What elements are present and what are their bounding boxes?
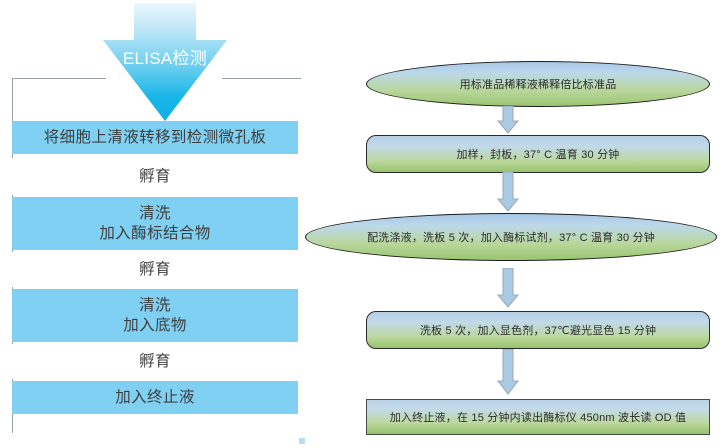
flow-node-label: 加入终止液，在 15 分钟内读出酶标仪 450nm 波长读 OD 值 — [390, 409, 687, 425]
down-arrow-icon — [497, 349, 519, 395]
flow-node-label: 洗板 5 次，加入显色剂，37℃避光显色 15 分钟 — [420, 322, 656, 338]
flow-node-box-2: 加样，封板，37° C 温育 30 分钟 — [366, 135, 710, 173]
workflow-step-row: 孵育 — [12, 344, 298, 379]
workflow-step-label: 将细胞上清液转移到检测微孔板 — [44, 128, 267, 148]
workflow-step-row: 将细胞上清液转移到检测微孔板 — [12, 121, 298, 154]
panel-corner-marker — [299, 438, 305, 444]
flow-node-label: 加样，封板，37° C 温育 30 分钟 — [456, 146, 619, 162]
workflow-step-row: 清洗 加入酶标结合物 — [12, 197, 298, 250]
elisa-protocol-diagram: ELISA检测 将细胞上清液转移到检测微孔板 孵育 清洗 加入酶标结合物 孵育 … — [0, 0, 723, 448]
workflow-step-row: 清洗 加入底物 — [12, 289, 298, 342]
workflow-step-label: 清洗 加入酶标结合物 — [99, 204, 210, 244]
down-arrow-icon — [103, 3, 227, 121]
flow-node-label: 用标准品稀释液稀释倍比标准品 — [460, 76, 617, 92]
workflow-step-label: 孵育 — [139, 260, 171, 280]
down-arrow-icon — [497, 268, 519, 308]
workflow-step-label: 孵育 — [139, 352, 171, 372]
workflow-step-row: 孵育 — [12, 158, 298, 195]
flow-node-box-5: 加入终止液，在 15 分钟内读出酶标仪 450nm 波长读 OD 值 — [366, 399, 710, 435]
flow-node-box-4: 洗板 5 次，加入显色剂，37℃避光显色 15 分钟 — [366, 311, 710, 349]
flow-node-ellipse-1: 用标准品稀释液稀释倍比标准品 — [366, 61, 710, 107]
workflow-step-row: 加入终止液 — [12, 381, 298, 414]
flow-node-ellipse-3: 配洗涤液，洗板 5 次，加入酶标试剂，37° C 温育 30 分钟 — [305, 213, 717, 261]
down-arrow-icon — [497, 172, 519, 212]
flow-node-label: 配洗涤液，洗板 5 次，加入酶标试剂，37° C 温育 30 分钟 — [367, 229, 655, 245]
workflow-step-label: 孵育 — [139, 167, 171, 187]
workflow-step-label: 清洗 加入底物 — [123, 296, 187, 336]
down-arrow-icon — [497, 106, 519, 134]
workflow-step-row: 孵育 — [12, 252, 298, 287]
workflow-step-label: 加入终止液 — [115, 388, 195, 408]
